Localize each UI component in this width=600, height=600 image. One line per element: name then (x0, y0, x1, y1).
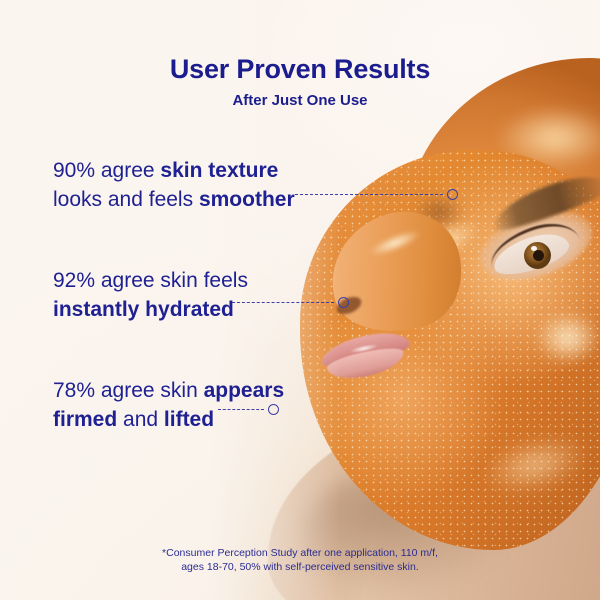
claim-1-line1-emphasis: skin texture (160, 159, 278, 182)
claim-hydration-line-2: instantly hydrated (53, 295, 248, 324)
callout-dot-icon (268, 404, 279, 415)
claim-firmness-line-1: 78% agree skin appears (53, 376, 284, 405)
claim-2-line1-lead: 92% agree skin feels (53, 269, 248, 292)
claim-3-line1-lead: 78% agree skin (53, 379, 204, 402)
claim-1-line1-lead: 90% agree (53, 159, 160, 182)
claim-1-line2-emphasis: smoother (199, 188, 295, 211)
claim-hydration-line-1: 92% agree skin feels (53, 266, 248, 295)
page-subtitle: After Just One Use (0, 92, 600, 109)
connector-dashed-line (218, 409, 264, 410)
footnote-line-1: *Consumer Perception Study after one app… (0, 546, 600, 560)
connector-dashed-line (295, 194, 443, 195)
claim-skin-texture: 90% agree skin texture looks and feels s… (53, 156, 295, 214)
claim-skin-texture-line-1: 90% agree skin texture (53, 156, 295, 185)
promo-canvas: User Proven Results After Just One Use 9… (0, 0, 600, 600)
claim-hydration: 92% agree skin feels instantly hydrated (53, 266, 248, 324)
connector-hydration (232, 296, 349, 308)
callout-dot-icon (338, 297, 349, 308)
claim-skin-texture-line-2: looks and feels smoother (53, 185, 295, 214)
connector-dashed-line (232, 302, 334, 303)
claim-3-line2-emphasis-2: lifted (164, 408, 214, 431)
claim-1-line2-lead: looks and feels (53, 188, 199, 211)
study-footnote: *Consumer Perception Study after one app… (0, 546, 600, 574)
claim-3-line2-emphasis: firmed (53, 408, 117, 431)
footnote-line-2: ages 18-70, 50% with self-perceived sens… (0, 560, 600, 574)
connector-skin-texture (295, 188, 458, 200)
claim-3-line2-lead: and (117, 408, 164, 431)
page-title: User Proven Results (0, 54, 600, 85)
claim-2-line2-emphasis: instantly hydrated (53, 298, 234, 321)
claim-3-line1-emphasis: appears (204, 379, 285, 402)
connector-firmness (218, 403, 279, 415)
callout-dot-icon (447, 189, 458, 200)
headline-block: User Proven Results After Just One Use (0, 54, 600, 109)
